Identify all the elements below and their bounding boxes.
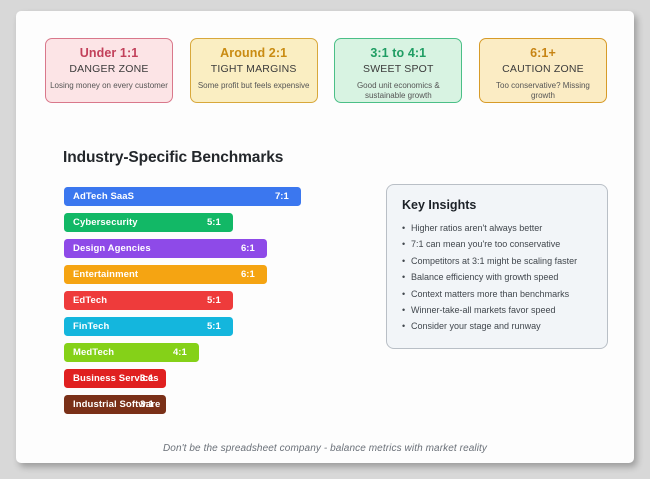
key-insights-panel: Key Insights Higher ratios aren't always… — [386, 184, 608, 349]
zone-ratio: 6:1+ — [480, 45, 606, 61]
zone-ratio: 3:1 to 4:1 — [335, 45, 461, 61]
bar-value: 5:1 — [207, 291, 221, 310]
zone-name: SWEET SPOT — [335, 61, 461, 77]
bar-row: Design Agencies6:1 — [64, 239, 354, 265]
bar-label: Entertainment — [73, 265, 138, 284]
key-insight-item: Higher ratios aren't always better — [402, 220, 592, 236]
zone-name: DANGER ZONE — [46, 61, 172, 77]
zone-card-list: Under 1:1DANGER ZONELosing money on ever… — [45, 38, 607, 103]
zone-ratio: Under 1:1 — [46, 45, 172, 61]
bar-label: Cybersecurity — [73, 213, 138, 232]
key-insight-item: Consider your stage and runway — [402, 318, 592, 334]
zone-name: CAUTION ZONE — [480, 61, 606, 77]
bar-label: AdTech SaaS — [73, 187, 134, 206]
bar-row: Business Services3:1 — [64, 369, 354, 395]
key-insight-item: Context matters more than benchmarks — [402, 286, 592, 302]
benchmark-bar-chart: AdTech SaaS7:1Cybersecurity5:1Design Age… — [64, 187, 354, 421]
bar-label: Design Agencies — [73, 239, 151, 258]
bar-label: FinTech — [73, 317, 109, 336]
bar-row: MedTech4:1 — [64, 343, 354, 369]
bar-value: 3:1 — [140, 395, 154, 414]
zone-ratio: Around 2:1 — [191, 45, 317, 61]
key-insight-item: Competitors at 3:1 might be scaling fast… — [402, 253, 592, 269]
key-insight-item: Balance efficiency with growth speed — [402, 269, 592, 285]
zone-card: 6:1+CAUTION ZONEToo conservative? Missin… — [479, 38, 607, 103]
zone-description: Some profit but feels expensive — [191, 81, 317, 91]
zone-description: Too conservative? Missing growth — [480, 81, 606, 100]
key-insight-item: 7:1 can mean you're too conservative — [402, 236, 592, 252]
footer-note: Don't be the spreadsheet company - balan… — [16, 443, 634, 454]
zone-card: Around 2:1TIGHT MARGINSSome profit but f… — [190, 38, 318, 103]
zone-card: 3:1 to 4:1SWEET SPOTGood unit economics … — [334, 38, 462, 103]
bar-row: AdTech SaaS7:1 — [64, 187, 354, 213]
zone-name: TIGHT MARGINS — [191, 61, 317, 77]
bar-value: 6:1 — [241, 239, 255, 258]
bar-row: Entertainment6:1 — [64, 265, 354, 291]
bar-row: Industrial Software3:1 — [64, 395, 354, 421]
bar-value: 5:1 — [207, 317, 221, 336]
bar-value: 5:1 — [207, 213, 221, 232]
slide-canvas: Under 1:1DANGER ZONELosing money on ever… — [16, 11, 634, 463]
zone-card: Under 1:1DANGER ZONELosing money on ever… — [45, 38, 173, 103]
bar-row: Cybersecurity5:1 — [64, 213, 354, 239]
key-insight-item: Winner-take-all markets favor speed — [402, 302, 592, 318]
page-title: Industry-Specific Benchmarks — [63, 149, 283, 167]
bar-label: EdTech — [73, 291, 107, 310]
zone-description: Losing money on every customer — [46, 81, 172, 91]
key-insights-title: Key Insights — [402, 198, 592, 212]
bar-value: 3:1 — [140, 369, 154, 388]
bar-value: 4:1 — [173, 343, 187, 362]
bar-value: 7:1 — [275, 187, 289, 206]
key-insights-list: Higher ratios aren't always better7:1 ca… — [402, 220, 592, 335]
bar-value: 6:1 — [241, 265, 255, 284]
bar-label: MedTech — [73, 343, 114, 362]
bar-row: EdTech5:1 — [64, 291, 354, 317]
zone-description: Good unit economics & sustainable growth — [335, 81, 461, 100]
bar-row: FinTech5:1 — [64, 317, 354, 343]
